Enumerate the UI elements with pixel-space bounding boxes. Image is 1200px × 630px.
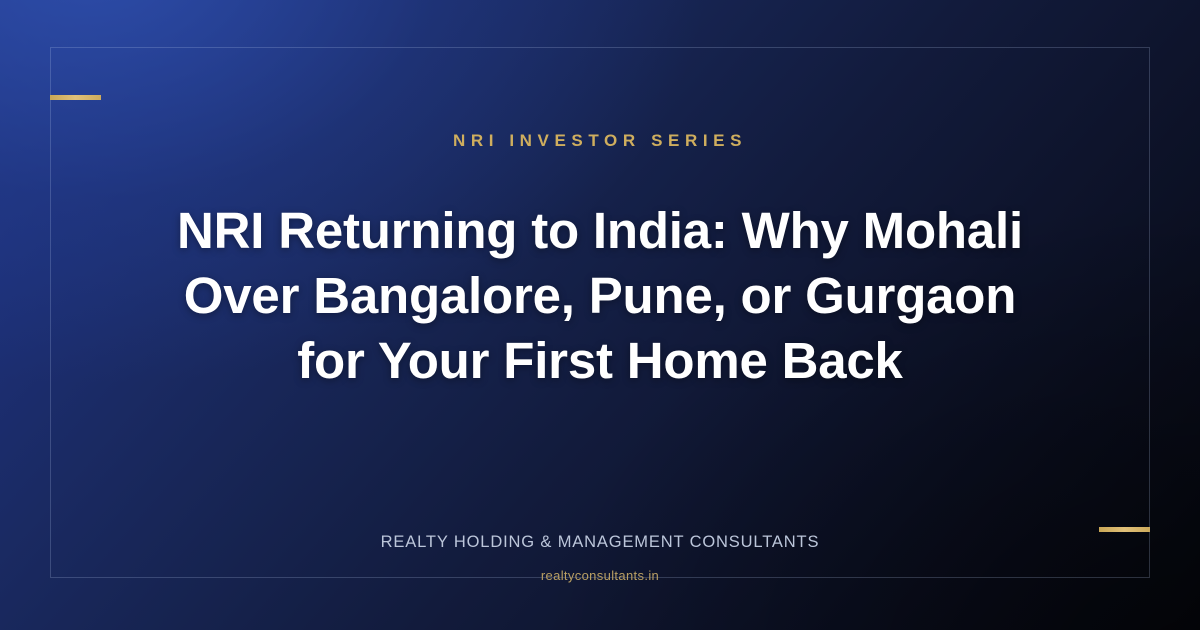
promo-banner: NRI Investor Series NRI Returning to Ind… bbox=[0, 0, 1200, 630]
title-line-2: Over Bangalore, Pune, or Gurgaon bbox=[60, 263, 1140, 328]
title-line-1: NRI Returning to India: Why Mohali bbox=[60, 198, 1140, 263]
company-name-label: REALTY HOLDING & MANAGEMENT CONSULTANTS bbox=[0, 533, 1200, 552]
title-line-3: for Your First Home Back bbox=[60, 328, 1140, 393]
page-title: NRI Returning to India: Why Mohali Over … bbox=[60, 198, 1140, 393]
series-eyebrow-label: NRI Investor Series bbox=[0, 131, 1200, 151]
website-url-label: realtyconsultants.in bbox=[0, 568, 1200, 583]
banner-content: NRI Investor Series NRI Returning to Ind… bbox=[0, 0, 1200, 630]
